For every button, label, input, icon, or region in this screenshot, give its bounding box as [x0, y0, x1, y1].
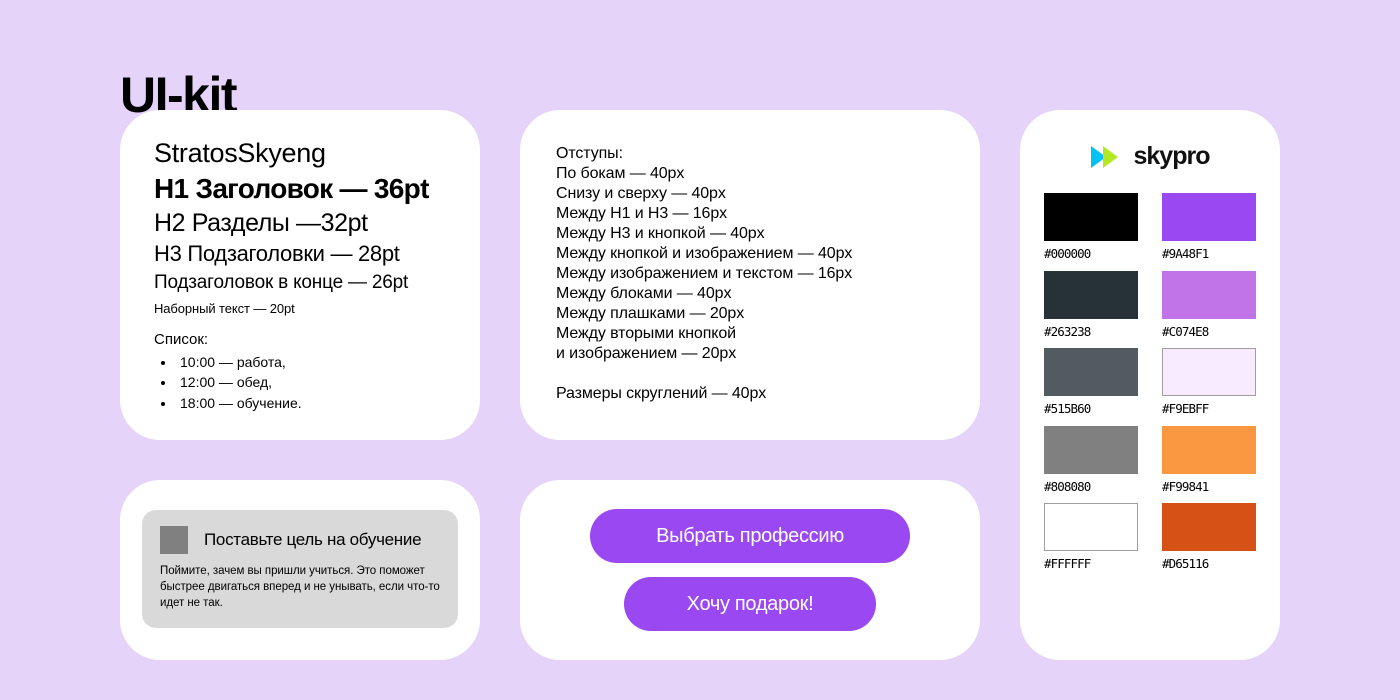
spacing-heading: Отступы:	[556, 144, 944, 164]
swatch-item[interactable]: #C074E8	[1162, 271, 1256, 339]
swatch-chip	[1162, 348, 1256, 396]
swatch-item[interactable]: #263238	[1044, 271, 1138, 339]
swatch-label: #9A48F1	[1162, 248, 1256, 261]
body-text-sample: Наборный текст — 20pt	[154, 301, 448, 317]
palette-panel: skypro #000000 #9A48F1 #263238 #C074E8 #…	[1020, 110, 1280, 660]
list-item: 18:00 — обучение.	[176, 393, 448, 413]
swatch-item[interactable]: #515B60	[1044, 348, 1138, 416]
spacing-card: Отступы: По бокам — 40px Снизу и сверху …	[520, 110, 980, 440]
spacing-line: Между H3 и кнопкой — 40px	[556, 224, 944, 244]
swatch-chip	[1044, 193, 1138, 241]
swatch-chip	[1162, 426, 1256, 474]
h3-sample: H3 Подзаголовки — 28pt	[154, 241, 448, 267]
swatch-item[interactable]: #000000	[1044, 193, 1138, 261]
corner-radius-note: Размеры скруглений — 40px	[556, 384, 944, 404]
swatch-label: #F9EBFF	[1162, 403, 1256, 416]
choose-profession-button[interactable]: Выбрать профессию	[590, 509, 910, 563]
spacing-line: Между блоками — 40px	[556, 284, 944, 304]
swatch-label: #263238	[1044, 326, 1138, 339]
swatch-chip	[1044, 426, 1138, 474]
spacing-line: Между плашками — 20px	[556, 304, 944, 324]
spacing-divider	[556, 364, 944, 384]
swatch-chip	[1044, 503, 1138, 551]
want-gift-button[interactable]: Хочу подарок!	[624, 577, 876, 631]
list-title: Список:	[154, 330, 448, 350]
swatch-chip	[1044, 271, 1138, 319]
swatch-chip	[1162, 271, 1256, 319]
spacing-line: Между изображением и текстом — 16px	[556, 264, 944, 284]
goal-widget[interactable]: Поставьте цель на обучение Поймите, заче…	[142, 510, 458, 628]
subtitle-sample: Подзаголовок в конце — 26pt	[154, 272, 448, 295]
schedule-list: 10:00 — работа, 12:00 — обед, 18:00 — об…	[154, 352, 448, 413]
swatch-label: #F99841	[1162, 481, 1256, 494]
goal-widget-description: Поймите, зачем вы пришли учиться. Это по…	[160, 564, 440, 611]
spacing-line: Между вторыми кнопкой	[556, 324, 944, 344]
goal-widget-title: Поставьте цель на обучение	[204, 531, 421, 550]
swatch-label: #FFFFFF	[1044, 558, 1138, 571]
color-swatch-grid: #000000 #9A48F1 #263238 #C074E8 #515B60 …	[1044, 193, 1256, 571]
swatch-item[interactable]: #F99841	[1162, 426, 1256, 494]
swatch-label: #D65116	[1162, 558, 1256, 571]
buttons-card: Выбрать профессию Хочу подарок!	[520, 480, 980, 660]
skypro-play-mark-icon	[1091, 145, 1125, 169]
h1-sample: H1 Заголовок — 36pt	[154, 172, 448, 206]
swatch-chip	[1162, 503, 1256, 551]
swatch-label: #808080	[1044, 481, 1138, 494]
spacing-line: Между H1 и H3 — 16px	[556, 204, 944, 224]
swatch-label: #000000	[1044, 248, 1138, 261]
swatch-item[interactable]: #F9EBFF	[1162, 348, 1256, 416]
swatch-chip	[1162, 193, 1256, 241]
swatch-label: #C074E8	[1162, 326, 1256, 339]
swatch-chip	[1044, 348, 1138, 396]
skypro-logo: skypro	[1044, 144, 1256, 169]
swatch-label: #515B60	[1044, 403, 1138, 416]
goal-widget-header: Поставьте цель на обучение	[160, 526, 440, 554]
list-item: 10:00 — работа,	[176, 352, 448, 372]
h2-sample: H2 Разделы —32pt	[154, 208, 448, 238]
swatch-item[interactable]: #808080	[1044, 426, 1138, 494]
spacing-line: По бокам — 40px	[556, 164, 944, 184]
font-family-sample: StratosSkyeng	[154, 138, 448, 170]
placeholder-image-icon	[160, 526, 188, 554]
spacing-line: и изображением — 20px	[556, 344, 944, 364]
spacing-line: Между кнопкой и изображением — 40px	[556, 244, 944, 264]
skypro-wordmark: skypro	[1134, 144, 1210, 169]
swatch-item[interactable]: #9A48F1	[1162, 193, 1256, 261]
swatch-item[interactable]: #D65116	[1162, 503, 1256, 571]
component-card: Поставьте цель на обучение Поймите, заче…	[120, 480, 480, 660]
typography-card: StratosSkyeng H1 Заголовок — 36pt H2 Раз…	[120, 110, 480, 440]
spacing-line: Снизу и сверху — 40px	[556, 184, 944, 204]
swatch-item[interactable]: #FFFFFF	[1044, 503, 1138, 571]
list-item: 12:00 — обед,	[176, 372, 448, 392]
